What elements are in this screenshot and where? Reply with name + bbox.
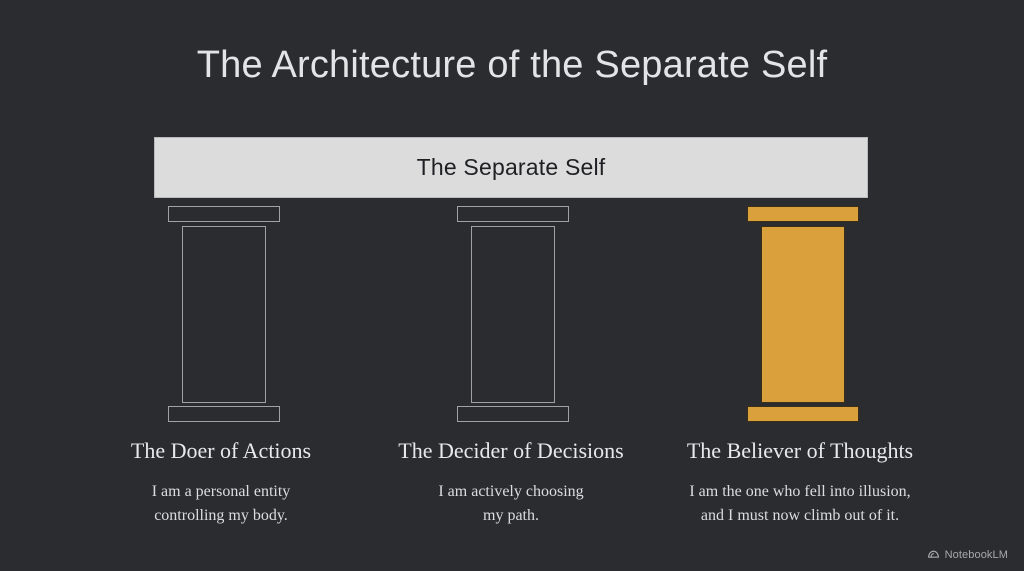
notebooklm-logo-icon [927, 548, 940, 561]
pillar-title-decider: The Decider of Decisions [361, 438, 661, 464]
pillar-base [747, 406, 859, 422]
pillar-description-line: I am the one who fell into illusion, [650, 480, 950, 503]
pillar-shaft [182, 226, 266, 403]
pillar-base [168, 406, 280, 422]
pillar-title-believer: The Believer of Thoughts [650, 438, 950, 464]
pillar-base [457, 406, 569, 422]
slide-canvas: The Architecture of the Separate Self Th… [0, 0, 1024, 571]
pillar-shaft [761, 226, 845, 403]
caption-believer: The Believer of Thoughts I am the one wh… [650, 438, 950, 527]
pillar-description-line: my path. [361, 504, 661, 527]
pillar-capital [747, 206, 859, 222]
pillar-description-line: and I must now climb out of it. [650, 504, 950, 527]
pillar-description-decider: I am actively choosing my path. [361, 480, 661, 526]
pillar-shaft [471, 226, 555, 403]
pillar-description-doer: I am a personal entity controlling my bo… [71, 480, 371, 526]
pillar-believer [747, 206, 859, 422]
notebooklm-watermark: NotebookLM [927, 548, 1008, 561]
caption-decider: The Decider of Decisions I am actively c… [361, 438, 661, 527]
pillar-description-line: controlling my body. [71, 504, 371, 527]
pillar-capital [168, 206, 280, 222]
pillar-doer [168, 206, 280, 422]
notebooklm-label: NotebookLM [945, 549, 1008, 561]
pillar-description-line: I am a personal entity [71, 480, 371, 503]
pillar-description-line: I am actively choosing [361, 480, 661, 503]
caption-doer: The Doer of Actions I am a personal enti… [71, 438, 371, 527]
pillar-decider [457, 206, 569, 422]
pillar-title-doer: The Doer of Actions [71, 438, 371, 464]
pillar-capital [457, 206, 569, 222]
pillar-description-believer: I am the one who fell into illusion, and… [650, 480, 950, 526]
